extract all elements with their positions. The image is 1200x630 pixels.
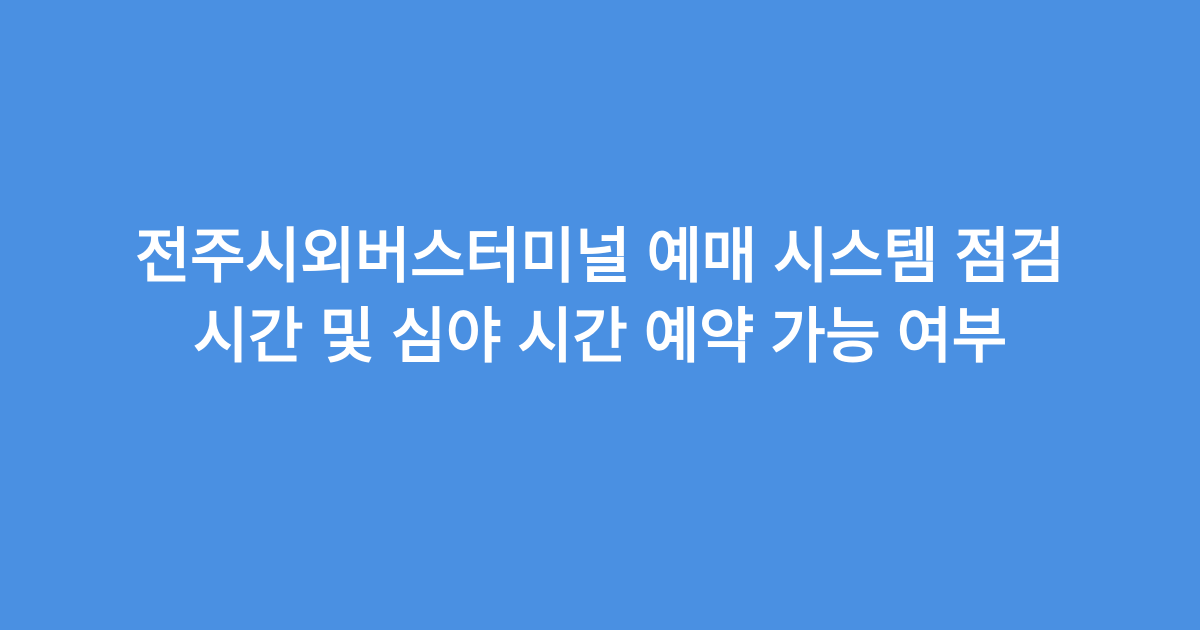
og-card-content: 전주시외버스터미널 예매 시스템 점검 시간 및 심야 시간 예약 가능 여부 — [0, 217, 1200, 377]
page-title: 전주시외버스터미널 예매 시스템 점검 시간 및 심야 시간 예약 가능 여부 — [96, 217, 1104, 377]
og-card: 전주시외버스터미널 예매 시스템 점검 시간 및 심야 시간 예약 가능 여부 — [0, 0, 1200, 630]
